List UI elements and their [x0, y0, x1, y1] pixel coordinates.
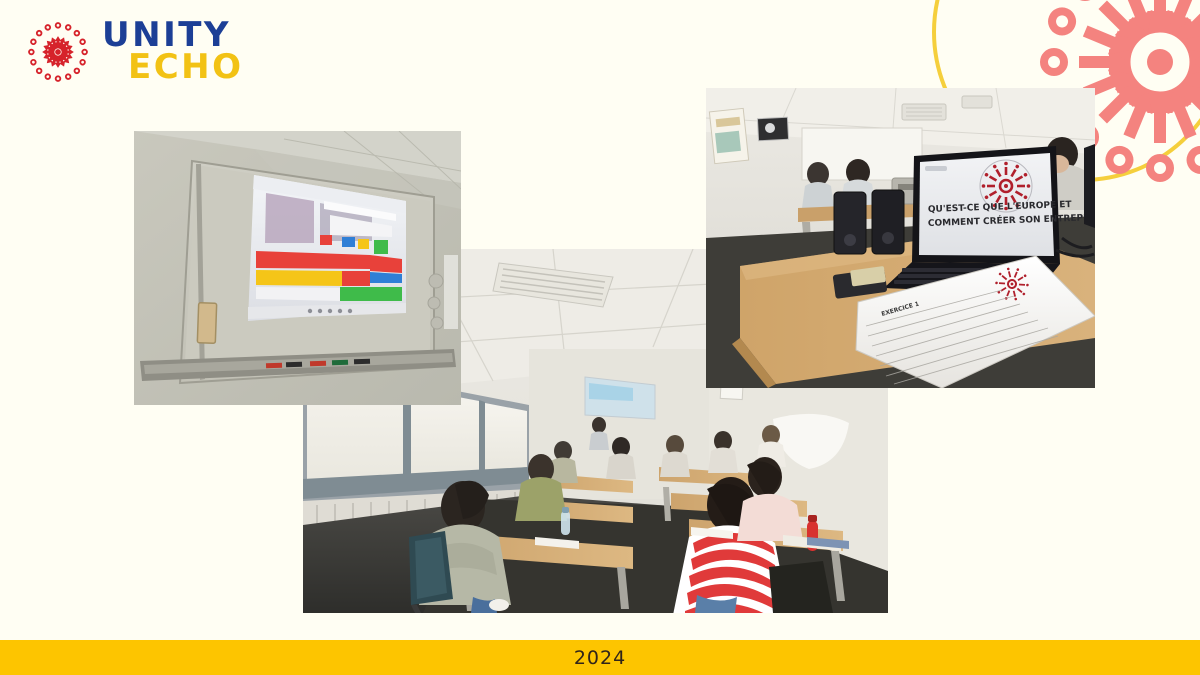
logo-text-echo: ECHO — [128, 52, 244, 84]
photo-laptop-presentation-worksheet: QU'EST-CE QUE L'EUROPE ET COMMENT CRÉER … — [706, 88, 1095, 388]
unity-echo-radial-burst-logo — [22, 14, 94, 90]
unity-echo-logo: UNITY ECHO — [22, 14, 244, 90]
slide-footer: 2024 — [0, 640, 1200, 675]
logo-wordmark: UNITY ECHO — [102, 20, 244, 84]
footer-year-label: 2024 — [574, 647, 626, 669]
photo-whiteboard-projection — [134, 131, 461, 405]
presentation-slide: UNITY ECHO — [0, 0, 1200, 675]
